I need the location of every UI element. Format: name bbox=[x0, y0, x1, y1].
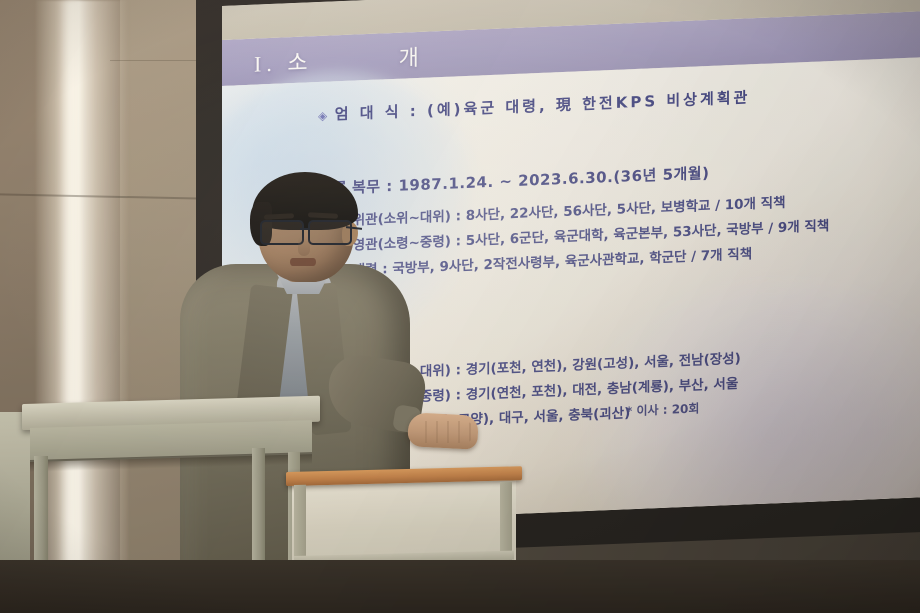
glasses-lens-right bbox=[308, 220, 352, 245]
floor bbox=[0, 560, 920, 613]
column-highlight bbox=[58, 0, 84, 613]
speaker-nose bbox=[298, 236, 310, 256]
speaker-mouth bbox=[290, 258, 316, 266]
diamond-bullet-icon: ◈ bbox=[318, 109, 328, 123]
slide-title-gap bbox=[313, 66, 399, 70]
slide-decor-swoosh-right bbox=[562, 275, 920, 526]
lecture-hall-scene: I. 소개 ◈엄 대 식 : (예)육군 대령, 現 한전KPS 비상계획관 ◈… bbox=[0, 0, 920, 613]
slide-note-moves: * 이사 : 20회 bbox=[626, 399, 699, 419]
speaker-fingers bbox=[416, 421, 474, 443]
glasses-bridge bbox=[300, 228, 310, 230]
slide-title-prefix: I. 소 bbox=[254, 49, 313, 76]
slide-title-suffix: 개 bbox=[399, 45, 424, 71]
